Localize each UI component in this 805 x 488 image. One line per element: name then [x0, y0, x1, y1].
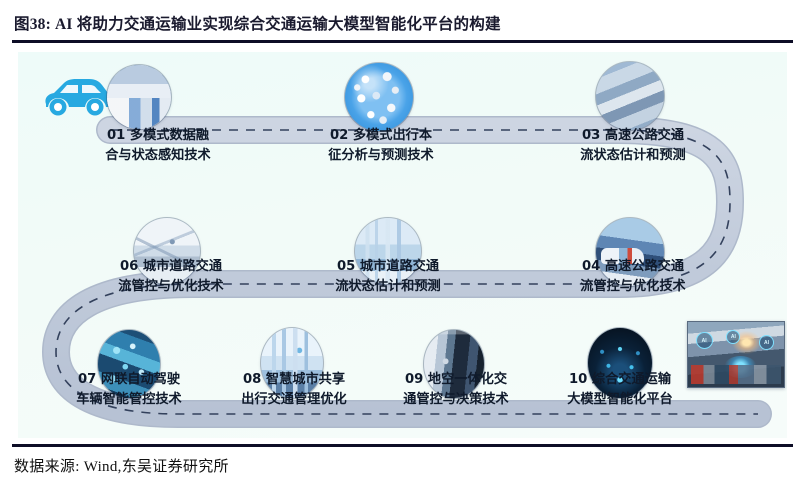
diagram-panel: 01 多模式数据融 合与状态感知技术 02 多模式出行本 征分析与预测技术 03… — [18, 52, 787, 438]
highway-interchange-aerial-photo — [596, 62, 664, 130]
blue-globe-multimodal-transport-icon — [345, 63, 413, 131]
node-label-03: 03 高速公路交通 流状态估计和预测 — [508, 126, 758, 166]
title-divider-top — [12, 40, 793, 43]
node-label-01: 01 多模式数据融 合与状态感知技术 — [18, 126, 298, 166]
node-thumb-02[interactable] — [345, 63, 413, 131]
source-divider — [12, 444, 793, 447]
figure-title: 图38: AI 将助力交通运输业实现综合交通运输大模型智能化平台的构建 — [14, 12, 784, 34]
node-label-05: 05 城市道路交通 流状态估计和预测 — [268, 257, 508, 297]
node-thumb-01[interactable] — [107, 65, 171, 129]
control-room-monitors-photo — [107, 65, 171, 129]
node-label-10: 10 综合交通运输 大模型智能化平台 — [522, 370, 718, 410]
node-label-04: 04 高速公路交通 流管控与优化技术 — [508, 257, 758, 297]
ai-badge-icon: AI — [759, 335, 774, 350]
node-label-06: 06 城市道路交通 流管控与优化技术 — [46, 257, 296, 297]
figure-page: 图38: AI 将助力交通运输业实现综合交通运输大模型智能化平台的构建 — [0, 0, 805, 488]
ai-badge-icon: AI — [696, 332, 713, 349]
node-label-02: 02 多模式出行本 征分析与预测技术 — [261, 126, 501, 166]
source-note: 数据来源: Wind,东吴证券研究所 — [14, 455, 229, 476]
node-thumb-03[interactable] — [596, 62, 664, 130]
